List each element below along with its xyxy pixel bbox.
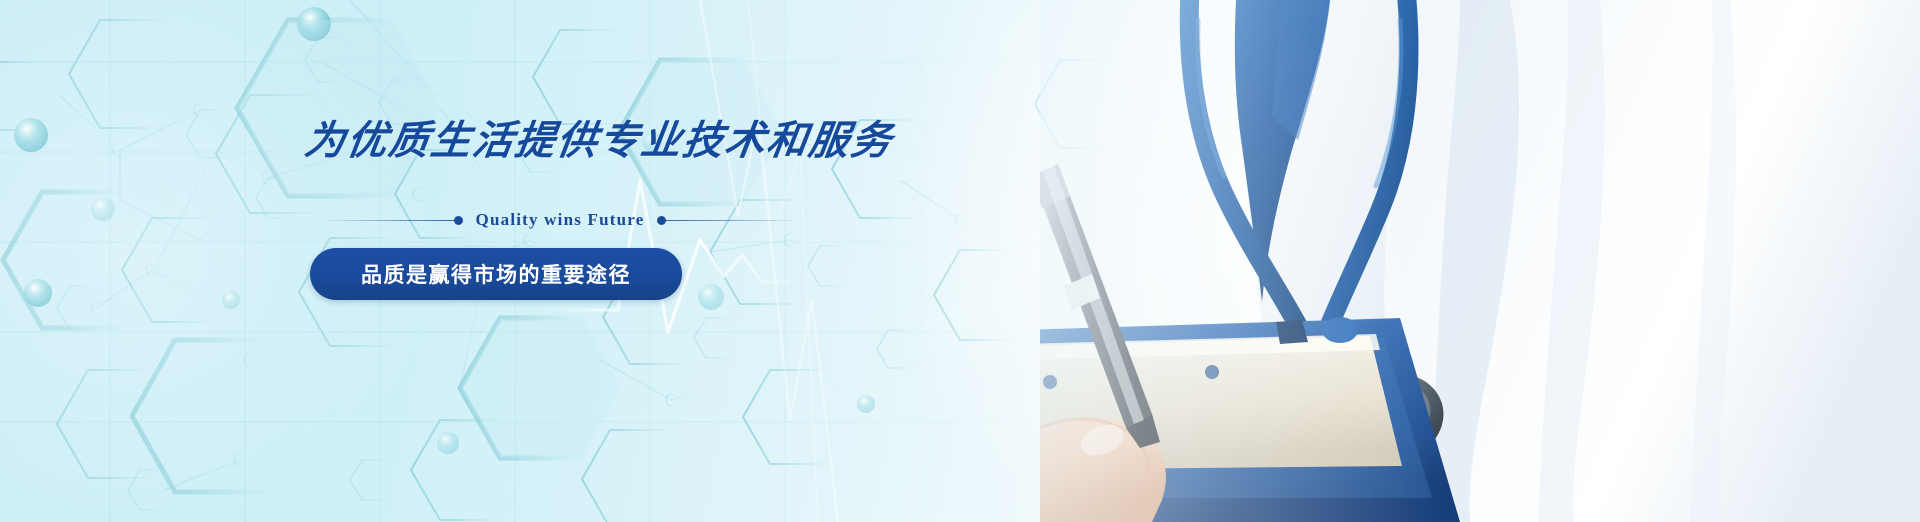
- doctor-illustration: [1040, 0, 1920, 522]
- cta-button[interactable]: 品质是赢得市场的重要途径: [310, 248, 682, 300]
- hero-banner: 为优质生活提供专业技术和服务 Quality wins Future 品质是赢得…: [0, 0, 1920, 522]
- divider-line-left: [325, 220, 454, 221]
- banner-content: 为优质生活提供专业技术和服务 Quality wins Future 品质是赢得…: [305, 118, 1005, 300]
- divider-dot-left: [454, 216, 463, 225]
- divider-dot-right: [657, 216, 666, 225]
- doctor-with-clipboard-photo: [1040, 0, 1920, 522]
- divider-line-right: [666, 220, 795, 221]
- cta-button-label: 品质是赢得市场的重要途径: [361, 259, 631, 289]
- tagline-text: Quality wins Future: [463, 210, 658, 230]
- page-title: 为优质生活提供专业技术和服务: [302, 118, 1008, 164]
- tagline-divider: Quality wins Future: [325, 210, 795, 230]
